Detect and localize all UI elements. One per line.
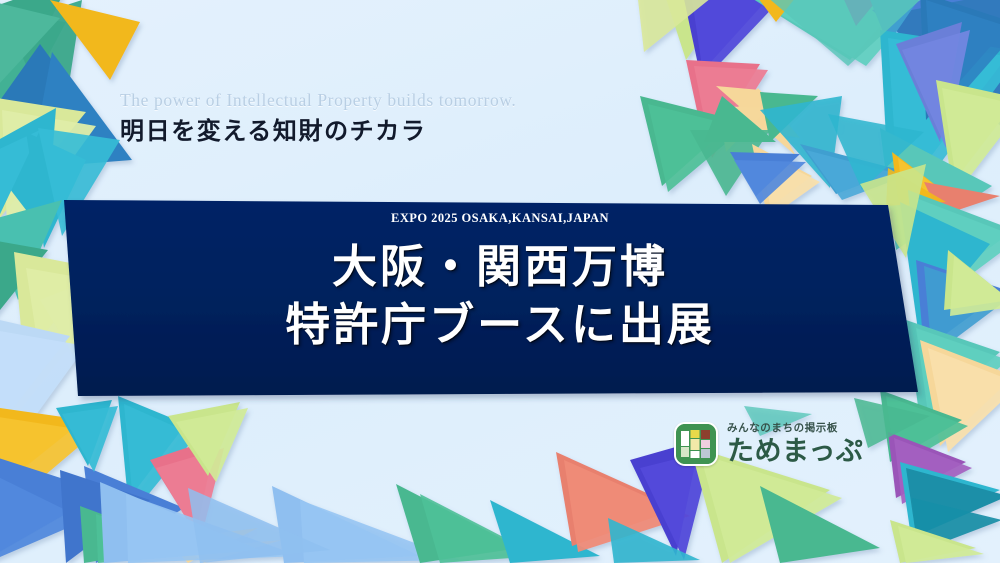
tamemap-logo[interactable]: みんなのまちの掲示板 ためまっぷ: [674, 422, 863, 466]
logo-tagline: みんなのまちの掲示板: [727, 423, 863, 434]
poster-canvas: The power of Intellectual Property build…: [0, 0, 1000, 563]
logo-name: ためまっぷ: [727, 438, 863, 465]
tagline-english: The power of Intellectual Property build…: [120, 88, 516, 113]
tagline-block: The power of Intellectual Property build…: [120, 88, 516, 147]
navy-banner-shape: [0, 0, 1000, 563]
bulletin-board-icon: [674, 422, 718, 466]
tagline-japanese: 明日を変える知財のチカラ: [120, 115, 516, 147]
logo-text-block: みんなのまちの掲示板 ためまっぷ: [727, 423, 863, 465]
